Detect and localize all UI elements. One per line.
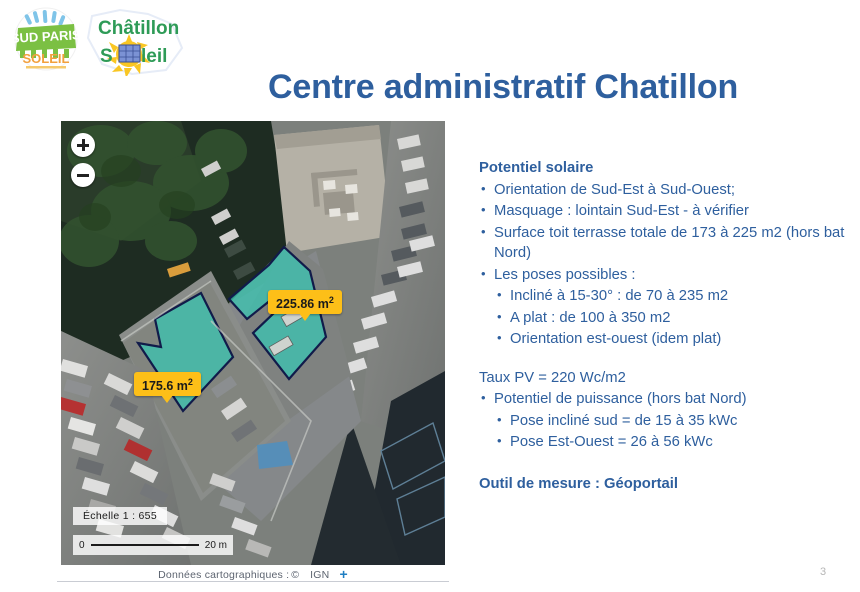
list-item: A plat : de 100 à 350 m2 xyxy=(495,308,857,329)
scale-bar-min-label: 0 xyxy=(79,540,85,551)
taux-pv-line: Taux PV = 220 Wc/m2 xyxy=(479,368,857,389)
aerial-photo xyxy=(61,121,445,565)
list-item: Potentiel de puissance (hors bat Nord) xyxy=(479,389,857,410)
chatillon-soleil-logo: Châtillon S xyxy=(86,8,190,76)
content-spacer xyxy=(479,351,857,368)
sud-paris-soleil-logo-graphic: SUD PARIS SOLEIL xyxy=(4,6,88,72)
bullet-list-potentiel: Orientation de Sud-Est à Sud-Ouest; Masq… xyxy=(479,180,857,286)
zoom-in-icon[interactable] xyxy=(71,133,95,157)
measurement-label-225: 225.86 m2 xyxy=(268,290,342,314)
expand-attribution-icon[interactable]: + xyxy=(339,566,347,582)
soleil-logo-suffix: leil xyxy=(141,46,167,67)
bullet-list-puissance: Potentiel de puissance (hors bat Nord) xyxy=(479,389,857,410)
chatillon-logo-text: Châtillon xyxy=(98,18,179,39)
solar-panel-icon xyxy=(119,45,140,62)
soleil-logo-prefix: S xyxy=(100,46,113,67)
list-item: Masquage : lointain Sud-Est - à vérifier xyxy=(479,201,857,222)
sud-paris-soleil-logo: SUD PARIS SOLEIL xyxy=(4,6,88,72)
list-item: Les poses possibles : xyxy=(479,265,857,286)
measurement-unit-sup-175: 2 xyxy=(188,377,193,387)
zoom-out-icon[interactable] xyxy=(71,163,95,187)
list-item: Orientation est-ouest (idem plat) xyxy=(495,329,857,350)
slide-root: SUD PARIS SOLEIL Châtillon xyxy=(0,0,860,592)
chatillon-soleil-logo-graphic: Châtillon S xyxy=(86,8,190,76)
bullet-sublist-poses: Incliné à 15-30° : de 70 à 235 m2 A plat… xyxy=(495,286,857,350)
list-item: Orientation de Sud-Est à Sud-Ouest; xyxy=(479,180,857,201)
attribution-provider: IGN xyxy=(310,569,329,581)
scale-bar-line xyxy=(91,544,199,546)
map-viewport[interactable]: 225.86 m2 175.6 m2 Échelle 1 : 655 0 20 … xyxy=(61,121,445,565)
measurement-value-225: 225.86 m xyxy=(276,297,329,311)
content-column: Potentiel solaire Orientation de Sud-Est… xyxy=(479,158,857,494)
list-item: Pose incliné sud = de 15 à 35 kWc xyxy=(495,411,857,432)
map-scale-bar: 0 20 m xyxy=(73,535,233,555)
measurement-label-175: 175.6 m2 xyxy=(134,372,201,396)
outil-de-mesure-line: Outil de mesure : Géoportail xyxy=(479,474,857,495)
page-title: Centre administratif Chatillon xyxy=(268,66,853,108)
map-attribution: Données cartographiques :©IGN+ xyxy=(61,566,445,582)
copyright-icon: © xyxy=(291,569,299,581)
soleil-logo-text: SOLEIL xyxy=(23,51,70,66)
attribution-text: Données cartographiques : xyxy=(158,569,289,581)
map-scale-text: Échelle 1 : 655 xyxy=(73,507,167,525)
bullet-sublist-pose: Pose incliné sud = de 15 à 35 kWc Pose E… xyxy=(495,411,857,453)
page-number: 3 xyxy=(820,566,826,578)
measurement-unit-sup-225: 2 xyxy=(329,295,334,305)
list-item: Pose Est-Ouest = 26 à 56 kWc xyxy=(495,432,857,453)
content-heading: Potentiel solaire xyxy=(479,158,857,179)
measurement-value-175: 175.6 m xyxy=(142,379,188,393)
scale-bar-max-label: 20 m xyxy=(205,540,227,551)
list-item: Surface toit terrasse totale de 173 à 22… xyxy=(479,223,857,264)
map-underline-divider xyxy=(57,581,449,582)
list-item: Incliné à 15-30° : de 70 à 235 m2 xyxy=(495,286,857,307)
